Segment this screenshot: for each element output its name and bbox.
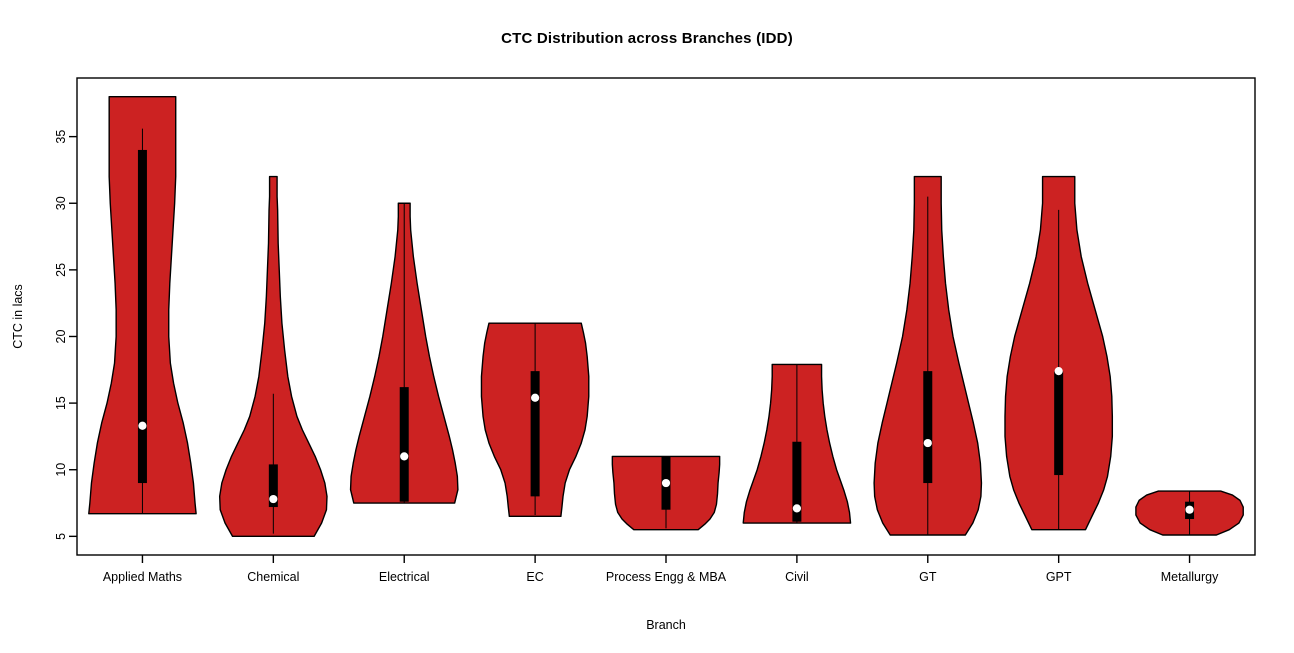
- y-tick-label: 25: [54, 263, 68, 277]
- y-tick-label: 30: [54, 196, 68, 210]
- iqr-box: [923, 371, 932, 483]
- violin-applied-maths[interactable]: [89, 97, 196, 514]
- y-tick-label: 10: [54, 463, 68, 477]
- x-tick-label-2: Chemical: [247, 570, 299, 584]
- median-point: [138, 422, 146, 430]
- median-point: [1055, 367, 1063, 375]
- iqr-box: [531, 371, 540, 496]
- x-tick-label-3: Electrical: [379, 570, 430, 584]
- x-tick-label-8: GPT: [1046, 570, 1072, 584]
- violin-chemical[interactable]: [220, 177, 327, 537]
- x-tick-label-6: Civil: [785, 570, 809, 584]
- median-point: [924, 439, 932, 447]
- median-point: [1185, 506, 1193, 514]
- iqr-box: [138, 150, 147, 483]
- x-tick-label-7: GT: [919, 570, 937, 584]
- y-tick-label: 20: [54, 329, 68, 343]
- violin-gt[interactable]: [874, 177, 981, 535]
- y-tick-label: 5: [54, 533, 68, 540]
- violin-civil[interactable]: [743, 364, 850, 523]
- x-axis-title: Branch: [646, 618, 686, 632]
- violin-metallurgy[interactable]: [1136, 491, 1243, 535]
- x-tick-label-4: EC: [526, 570, 543, 584]
- median-point: [400, 452, 408, 460]
- x-tick-label-1: Applied Maths: [103, 570, 182, 584]
- violin-gpt[interactable]: [1005, 177, 1112, 530]
- y-tick-label: 15: [54, 396, 68, 410]
- y-axis-title: CTC in lacs: [11, 284, 25, 349]
- violin-process-engg-mba[interactable]: [612, 456, 719, 529]
- median-point: [269, 495, 277, 503]
- violin-plot-page: CTC Distribution across Branches (IDD) 5…: [0, 0, 1294, 653]
- median-point: [793, 504, 801, 512]
- violin-chart: 5101520253035Applied MathsChemicalElectr…: [0, 0, 1294, 653]
- x-tick-label-5: Process Engg & MBA: [606, 570, 727, 584]
- violin-ec[interactable]: [481, 323, 588, 516]
- y-tick-label: 35: [54, 130, 68, 144]
- x-tick-label-9: Metallurgy: [1161, 570, 1219, 584]
- violin-electrical[interactable]: [351, 203, 458, 503]
- violins-layer: [89, 97, 1243, 537]
- median-point: [531, 394, 539, 402]
- iqr-box: [400, 387, 409, 502]
- median-point: [662, 479, 670, 487]
- iqr-box: [1054, 371, 1063, 475]
